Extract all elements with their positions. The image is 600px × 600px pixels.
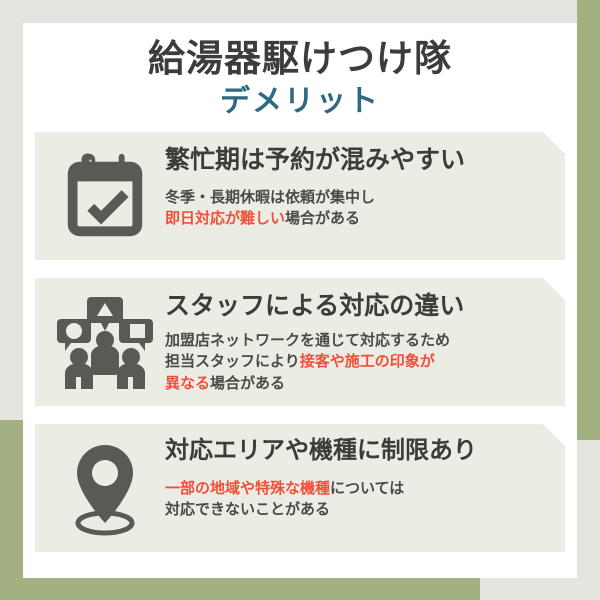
card-text-segment-highlight: 即日対応が難しい bbox=[165, 210, 285, 227]
map-pin-icon bbox=[49, 433, 161, 545]
card-text-segment-highlight: 一部の地域や特殊な機種 bbox=[165, 480, 330, 497]
card-text-segment-highlight: 接客や施工の印象が bbox=[300, 353, 435, 370]
content-panel: 給湯器駆けつけ隊 デメリット bbox=[23, 23, 577, 578]
page-title: 給湯器駆けつけ隊 bbox=[23, 37, 577, 81]
decor-band-right bbox=[577, 0, 600, 440]
card-heading: 繁忙期は予約が混みやすい bbox=[165, 145, 555, 175]
card-heading: 対応エリアや機種に制限あり bbox=[165, 437, 555, 466]
card-text-segment: 場合がある bbox=[210, 375, 285, 392]
people-speech-bubbles-icon bbox=[49, 287, 161, 399]
demerit-card-3: 対応エリアや機種に制限あり 一部の地域や特殊な機種については 対応できないことが… bbox=[35, 424, 565, 552]
poster-root: 給湯器駆けつけ隊 デメリット bbox=[0, 0, 600, 600]
card-body: 繁忙期は予約が混みやすい 冬季・長期休暇は依頼が集中し 即日対応が難しい場合があ… bbox=[161, 141, 555, 230]
card-text-segment: 加盟店ネットワークを通じて対応するため bbox=[165, 332, 450, 349]
card-list: 繁忙期は予約が混みやすい 冬季・長期休暇は依頼が集中し 即日対応が難しい場合があ… bbox=[23, 132, 577, 552]
card-line: 冬季・長期休暇は依頼が集中し bbox=[165, 187, 555, 208]
card-line: 担当スタッフにより接客や施工の印象が bbox=[165, 351, 555, 372]
demerit-card-1: 繁忙期は予約が混みやすい 冬季・長期休暇は依頼が集中し 即日対応が難しい場合があ… bbox=[35, 132, 565, 260]
card-line: 異なる場合がある bbox=[165, 373, 555, 394]
demerit-card-2: スタッフによる対応の違い 加盟店ネットワークを通じて対応するため 担当スタッフに… bbox=[35, 278, 565, 406]
card-lines: 一部の地域や特殊な機種については 対応できないことがある bbox=[165, 478, 555, 521]
card-body: 対応エリアや機種に制限あり 一部の地域や特殊な機種については 対応できないことが… bbox=[161, 433, 555, 520]
poster-header: 給湯器駆けつけ隊 デメリット bbox=[23, 23, 577, 120]
card-heading: スタッフによる対応の違い bbox=[165, 291, 555, 321]
card-text-segment-highlight: 異なる bbox=[165, 375, 210, 392]
card-text-segment: 担当スタッフにより bbox=[165, 353, 300, 370]
card-line: 即日対応が難しい場合がある bbox=[165, 208, 555, 229]
card-text-segment: 冬季・長期休暇は依頼が集中し bbox=[165, 189, 375, 206]
card-text-segment: 対応できないことがある bbox=[165, 501, 330, 518]
card-line: 対応できないことがある bbox=[165, 499, 555, 520]
card-lines: 加盟店ネットワークを通じて対応するため 担当スタッフにより接客や施工の印象が 異… bbox=[165, 330, 555, 394]
card-text-segment: 場合がある bbox=[285, 210, 360, 227]
card-line: 加盟店ネットワークを通じて対応するため bbox=[165, 330, 555, 351]
card-text-segment: については bbox=[330, 480, 404, 497]
card-line: 一部の地域や特殊な機種については bbox=[165, 478, 555, 499]
card-lines: 冬季・長期休暇は依頼が集中し 即日対応が難しい場合がある bbox=[165, 187, 555, 230]
card-body: スタッフによる対応の違い 加盟店ネットワークを通じて対応するため 担当スタッフに… bbox=[161, 287, 555, 394]
calendar-check-icon bbox=[49, 141, 161, 253]
page-subtitle: デメリット bbox=[23, 83, 577, 121]
